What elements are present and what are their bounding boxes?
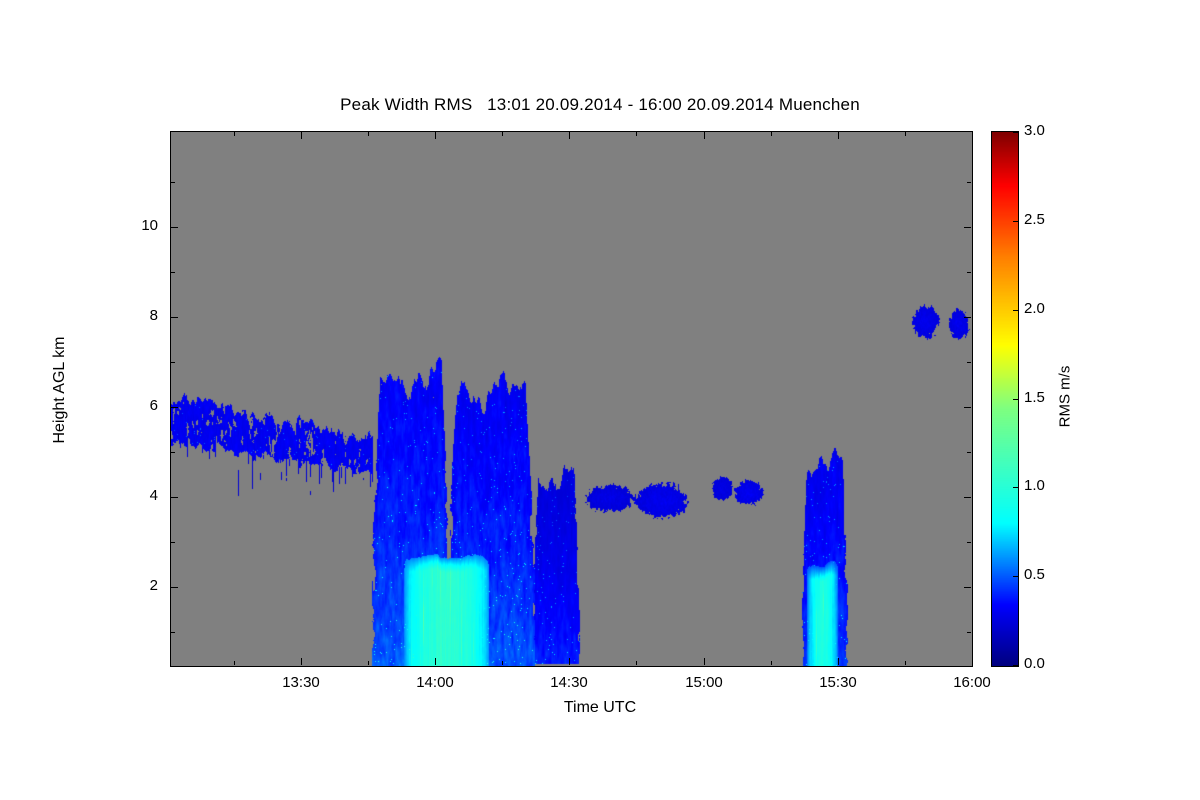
- x-tick-minor: [636, 661, 637, 665]
- x-tick-minor: [502, 132, 503, 136]
- colorbar-tick-label: 3.0: [1024, 122, 1070, 139]
- y-tick-label: 8: [118, 307, 158, 324]
- y-tick-minor: [967, 362, 971, 363]
- y-tick-mark: [171, 587, 178, 588]
- colorbar-tick-mark: [1013, 132, 1018, 133]
- heatmap-image[interactable]: [171, 132, 972, 666]
- y-tick-mark: [964, 587, 971, 588]
- x-tick-label: 14:30: [534, 674, 604, 691]
- y-tick-minor: [967, 452, 971, 453]
- y-tick-minor: [967, 542, 971, 543]
- y-tick-minor: [171, 182, 175, 183]
- x-tick-mark: [704, 132, 705, 139]
- x-tick-minor: [368, 132, 369, 136]
- y-tick-label: 2: [118, 577, 158, 594]
- y-tick-minor: [171, 272, 175, 273]
- y-tick-minor: [967, 272, 971, 273]
- y-tick-label: 10: [118, 217, 158, 234]
- colorbar-tick-mark: [1013, 487, 1018, 488]
- x-tick-mark: [972, 658, 973, 665]
- colorbar-tick-mark: [1013, 576, 1018, 577]
- y-tick-mark: [171, 407, 178, 408]
- x-tick-minor: [502, 661, 503, 665]
- x-tick-minor: [905, 132, 906, 136]
- colorbar-label: RMS m/s: [1057, 287, 1074, 507]
- y-tick-minor: [967, 182, 971, 183]
- colorbar-tick-mark: [1013, 310, 1018, 311]
- x-axis-label: Time UTC: [0, 699, 1200, 717]
- y-tick-mark: [171, 497, 178, 498]
- x-tick-minor: [368, 661, 369, 665]
- x-tick-mark: [569, 658, 570, 665]
- y-tick-mark: [171, 317, 178, 318]
- x-tick-label: 15:00: [669, 674, 739, 691]
- colorbar-tick-label: 0.5: [1024, 566, 1070, 583]
- x-tick-mark: [569, 132, 570, 139]
- x-tick-label: 14:00: [400, 674, 470, 691]
- x-tick-mark: [972, 132, 973, 139]
- colorbar-tick-label: 2.5: [1024, 211, 1070, 228]
- x-tick-label: 16:00: [937, 674, 1007, 691]
- colorbar-tick-mark: [1013, 665, 1018, 666]
- x-tick-label: 15:30: [803, 674, 873, 691]
- x-tick-minor: [234, 132, 235, 136]
- x-tick-mark: [301, 132, 302, 139]
- x-tick-mark: [838, 132, 839, 139]
- y-tick-mark: [964, 317, 971, 318]
- y-tick-minor: [171, 632, 175, 633]
- y-tick-minor: [171, 362, 175, 363]
- x-tick-label: 13:30: [266, 674, 336, 691]
- x-tick-mark: [704, 658, 705, 665]
- colorbar-tick-mark: [1013, 399, 1018, 400]
- x-tick-mark: [435, 132, 436, 139]
- y-tick-label: 6: [118, 397, 158, 414]
- x-tick-mark: [838, 658, 839, 665]
- x-tick-minor: [771, 661, 772, 665]
- x-tick-mark: [435, 658, 436, 665]
- x-tick-mark: [301, 658, 302, 665]
- x-tick-minor: [636, 132, 637, 136]
- y-tick-minor: [171, 452, 175, 453]
- x-tick-minor: [771, 132, 772, 136]
- y-tick-minor: [171, 542, 175, 543]
- y-tick-label: 4: [118, 487, 158, 504]
- x-tick-minor: [234, 661, 235, 665]
- y-tick-mark: [964, 497, 971, 498]
- colorbar-tick-label: 0.0: [1024, 655, 1070, 672]
- x-tick-minor: [905, 661, 906, 665]
- y-tick-mark: [964, 227, 971, 228]
- colorbar-tick-mark: [1013, 221, 1018, 222]
- y-tick-mark: [964, 407, 971, 408]
- y-axis-label: Height AGL km: [51, 260, 69, 520]
- chart-title: Peak Width RMS 13:01 20.09.2014 - 16:00 …: [0, 95, 1200, 115]
- figure-canvas: Peak Width RMS 13:01 20.09.2014 - 16:00 …: [0, 0, 1200, 800]
- y-tick-mark: [171, 227, 178, 228]
- y-tick-minor: [967, 632, 971, 633]
